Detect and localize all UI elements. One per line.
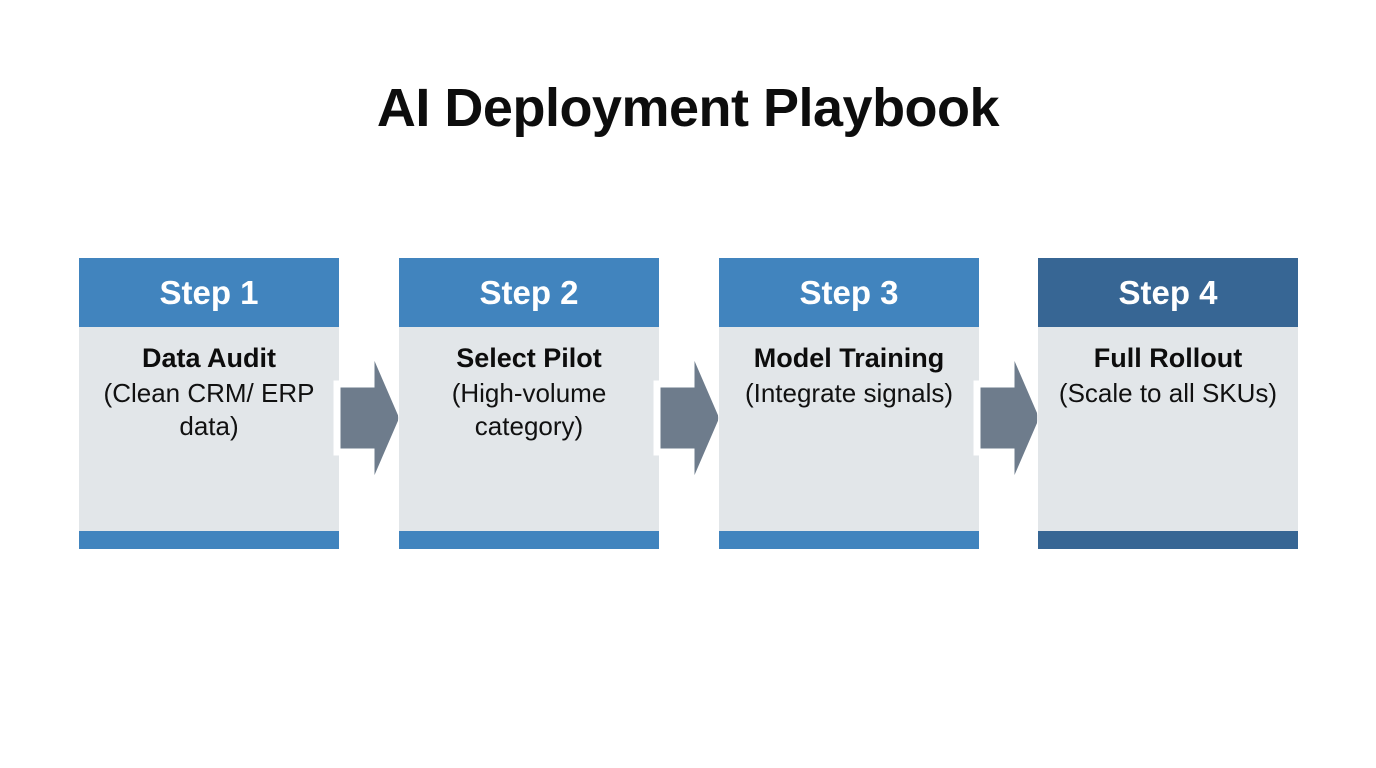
step-4-header: Step 4	[1038, 258, 1298, 327]
step-3-title: Model Training	[729, 341, 969, 375]
step-card-2[interactable]: Step 2 Select Pilot (High-volume categor…	[399, 258, 659, 549]
step-4-title: Full Rollout	[1048, 341, 1288, 375]
step-3-subtitle: (Integrate signals)	[729, 377, 969, 410]
step-1-header: Step 1	[79, 258, 339, 327]
step-1-footer-bar	[79, 531, 339, 549]
step-3-header: Step 3	[719, 258, 979, 327]
right-arrow-icon	[653, 340, 725, 496]
right-arrow-icon	[333, 340, 405, 496]
step-1-title: Data Audit	[89, 341, 329, 375]
step-card-3[interactable]: Step 3 Model Training (Integrate signals…	[719, 258, 979, 549]
step-3-body: Model Training (Integrate signals)	[719, 327, 979, 531]
page-title: AI Deployment Playbook	[0, 76, 1376, 140]
step-2-footer-bar	[399, 531, 659, 549]
step-2-subtitle: (High-volume category)	[409, 377, 649, 443]
step-4-footer-bar	[1038, 531, 1298, 549]
step-card-1[interactable]: Step 1 Data Audit (Clean CRM/ ERP data)	[79, 258, 339, 549]
step-1-body: Data Audit (Clean CRM/ ERP data)	[79, 327, 339, 531]
step-2-header: Step 2	[399, 258, 659, 327]
step-3-footer-bar	[719, 531, 979, 549]
right-arrow-icon	[973, 340, 1045, 496]
step-4-body: Full Rollout (Scale to all SKUs)	[1038, 327, 1298, 531]
step-1-subtitle: (Clean CRM/ ERP data)	[89, 377, 329, 443]
diagram-root: AI Deployment Playbook Step 1 Data Audit…	[0, 0, 1376, 768]
step-2-title: Select Pilot	[409, 341, 649, 375]
step-card-4[interactable]: Step 4 Full Rollout (Scale to all SKUs)	[1038, 258, 1298, 549]
step-2-body: Select Pilot (High-volume category)	[399, 327, 659, 531]
step-4-subtitle: (Scale to all SKUs)	[1048, 377, 1288, 410]
process-flow: Step 1 Data Audit (Clean CRM/ ERP data) …	[0, 258, 1376, 550]
